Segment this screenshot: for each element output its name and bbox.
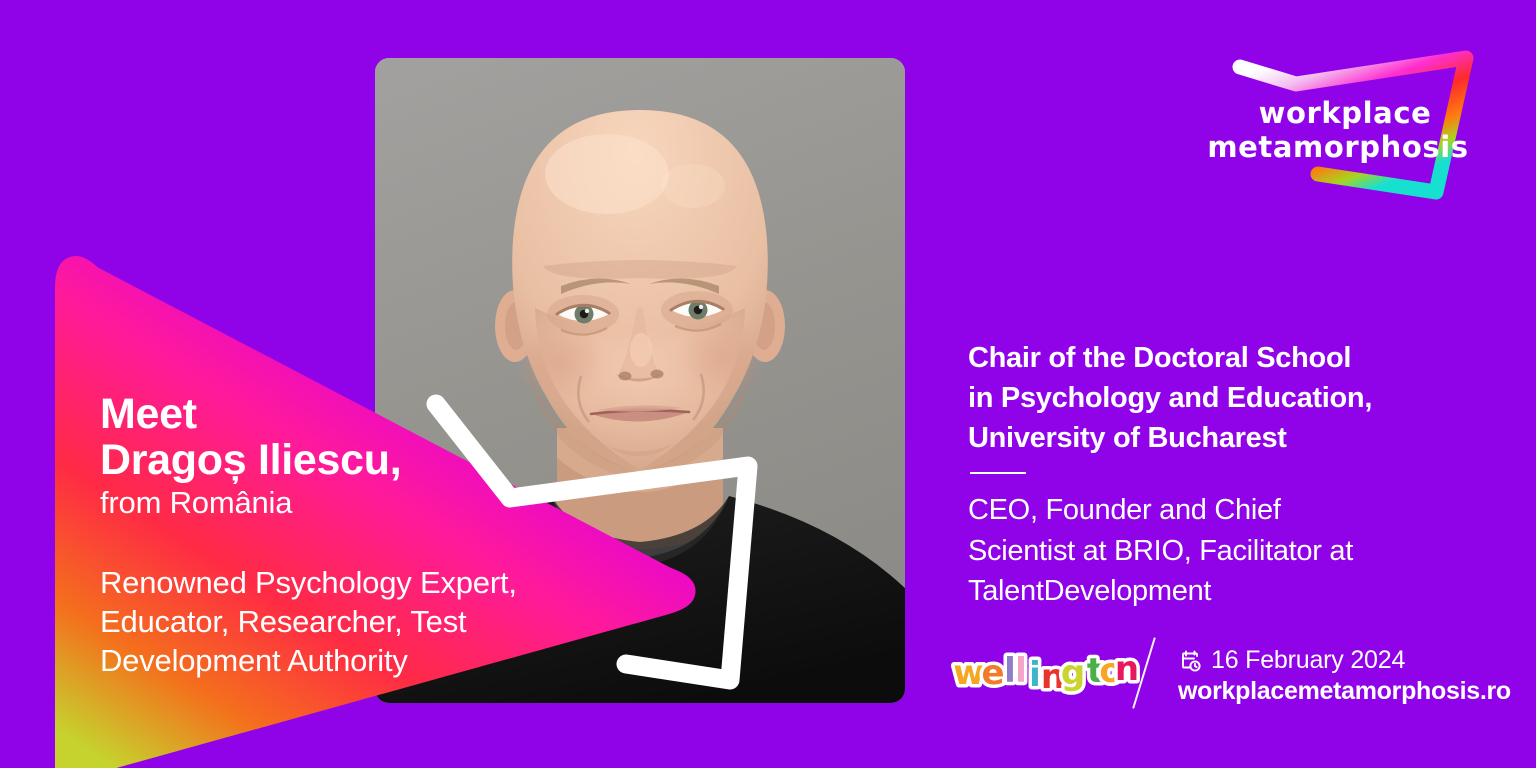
- svg-text:w: w: [953, 653, 984, 693]
- speaker-descriptor-line-3: Development Authority: [100, 641, 660, 680]
- speaker-country: from România: [100, 484, 660, 521]
- wellington-partner-logo[interactable]: w w e e l l l l i i n n g g t t o: [955, 640, 1131, 700]
- calendar-clock-icon: [1178, 649, 1202, 673]
- wellington-wordmark-icon: w w e e l l l l i i n n g g t t o: [955, 640, 1131, 700]
- speaker-name: Dragoș Iliescu,: [100, 437, 660, 483]
- logo-bracket-icon: [1178, 52, 1498, 210]
- credentials-block: Chair of the Doctoral School in Psycholo…: [968, 338, 1458, 612]
- svg-text:g: g: [1061, 653, 1085, 693]
- workplace-metamorphosis-logo: workplace metamorphosis: [1178, 52, 1498, 210]
- speaker-intro-block: Meet Dragoș Iliescu, from România Renown…: [100, 392, 660, 680]
- event-info-block: 16 February 2024 workplacemetamorphosis.…: [1178, 648, 1511, 704]
- credentials-secondary-line-1: CEO, Founder and Chief: [968, 490, 1458, 531]
- svg-text:l: l: [1015, 651, 1027, 691]
- speaker-descriptor-line-1: Renowned Psychology Expert,: [100, 563, 660, 602]
- svg-text:e: e: [981, 653, 1004, 693]
- meet-label: Meet: [100, 392, 660, 437]
- credentials-secondary: CEO, Founder and Chief Scientist at BRIO…: [968, 490, 1458, 612]
- svg-text:n: n: [1115, 649, 1139, 689]
- credentials-primary: Chair of the Doctoral School in Psycholo…: [968, 338, 1458, 458]
- svg-text:i: i: [1029, 655, 1041, 695]
- credentials-secondary-line-3: TalentDevelopment: [968, 571, 1458, 612]
- poster-canvas: Meet Dragoș Iliescu, from România Renown…: [0, 0, 1536, 768]
- divider-rule: [970, 472, 1026, 474]
- credentials-primary-line-1: Chair of the Doctoral School: [968, 338, 1458, 378]
- credentials-primary-line-3: University of Bucharest: [968, 418, 1458, 458]
- event-date-row: 16 February 2024: [1178, 648, 1511, 673]
- credentials-secondary-line-2: Scientist at BRIO, Facilitator at: [968, 531, 1458, 572]
- event-date: 16 February 2024: [1211, 648, 1405, 673]
- credentials-primary-line-2: in Psychology and Education,: [968, 378, 1458, 418]
- svg-text:l: l: [1004, 651, 1016, 691]
- event-website[interactable]: workplacemetamorphosis.ro: [1178, 679, 1511, 704]
- speaker-descriptor: Renowned Psychology Expert, Educator, Re…: [100, 563, 660, 680]
- speaker-descriptor-line-2: Educator, Researcher, Test: [100, 602, 660, 641]
